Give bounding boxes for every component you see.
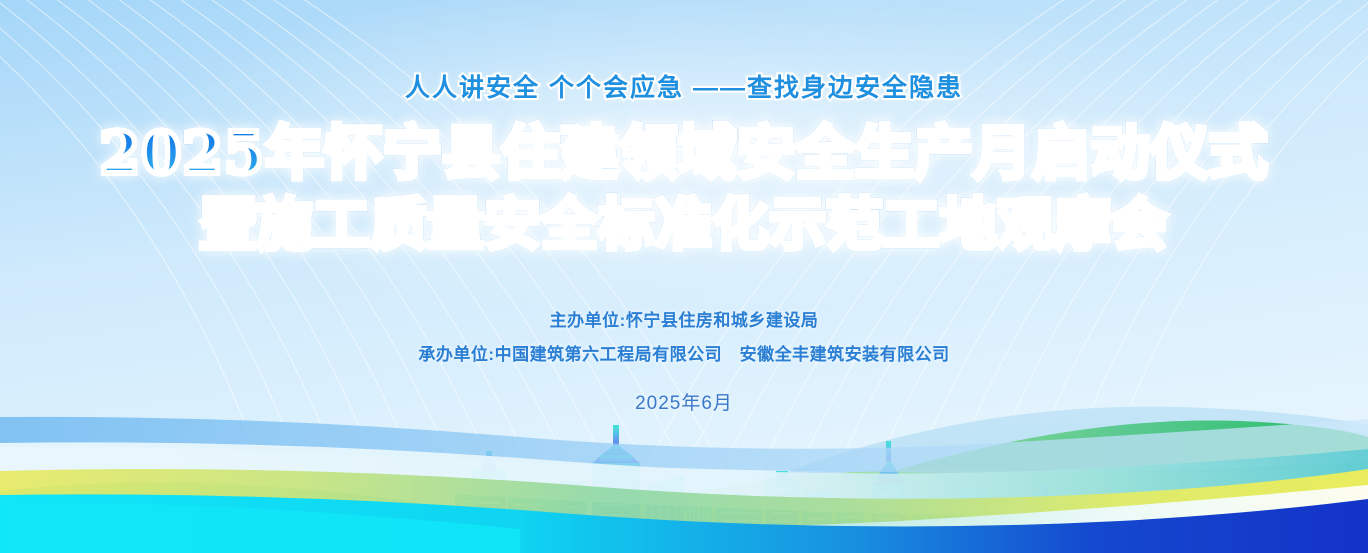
poster-date: 2025年6月 bbox=[0, 388, 1368, 415]
poster-title-line-2: 暨施工质量安全标准化示范工地观摩会 bbox=[0, 190, 1368, 262]
poster-text-content: 人人讲安全 个个会应急 ——查找身边安全隐患 2025年怀宁县住建领域安全生产月… bbox=[0, 0, 1368, 415]
poster-title: 2025年怀宁县住建领域安全生产月启动仪式 暨施工质量安全标准化示范工地观摩会 bbox=[0, 116, 1368, 262]
organizer-line: 主办单位:怀宁县住房和城乡建设局 bbox=[0, 304, 1368, 338]
undertaker-line: 承办单位:中国建筑第六工程局有限公司 安徽全丰建筑安装有限公司 bbox=[0, 338, 1368, 372]
event-poster-banner: 人人讲安全 个个会应急 ——查找身边安全隐患 2025年怀宁县住建领域安全生产月… bbox=[0, 0, 1368, 553]
wave-decoration bbox=[0, 413, 1368, 553]
poster-subtitle: 人人讲安全 个个会应急 ——查找身边安全隐患 bbox=[0, 68, 1368, 104]
poster-organizers: 主办单位:怀宁县住房和城乡建设局 承办单位:中国建筑第六工程局有限公司 安徽全丰… bbox=[0, 304, 1368, 415]
poster-title-line-1: 2025年怀宁县住建领域安全生产月启动仪式 bbox=[0, 116, 1368, 190]
